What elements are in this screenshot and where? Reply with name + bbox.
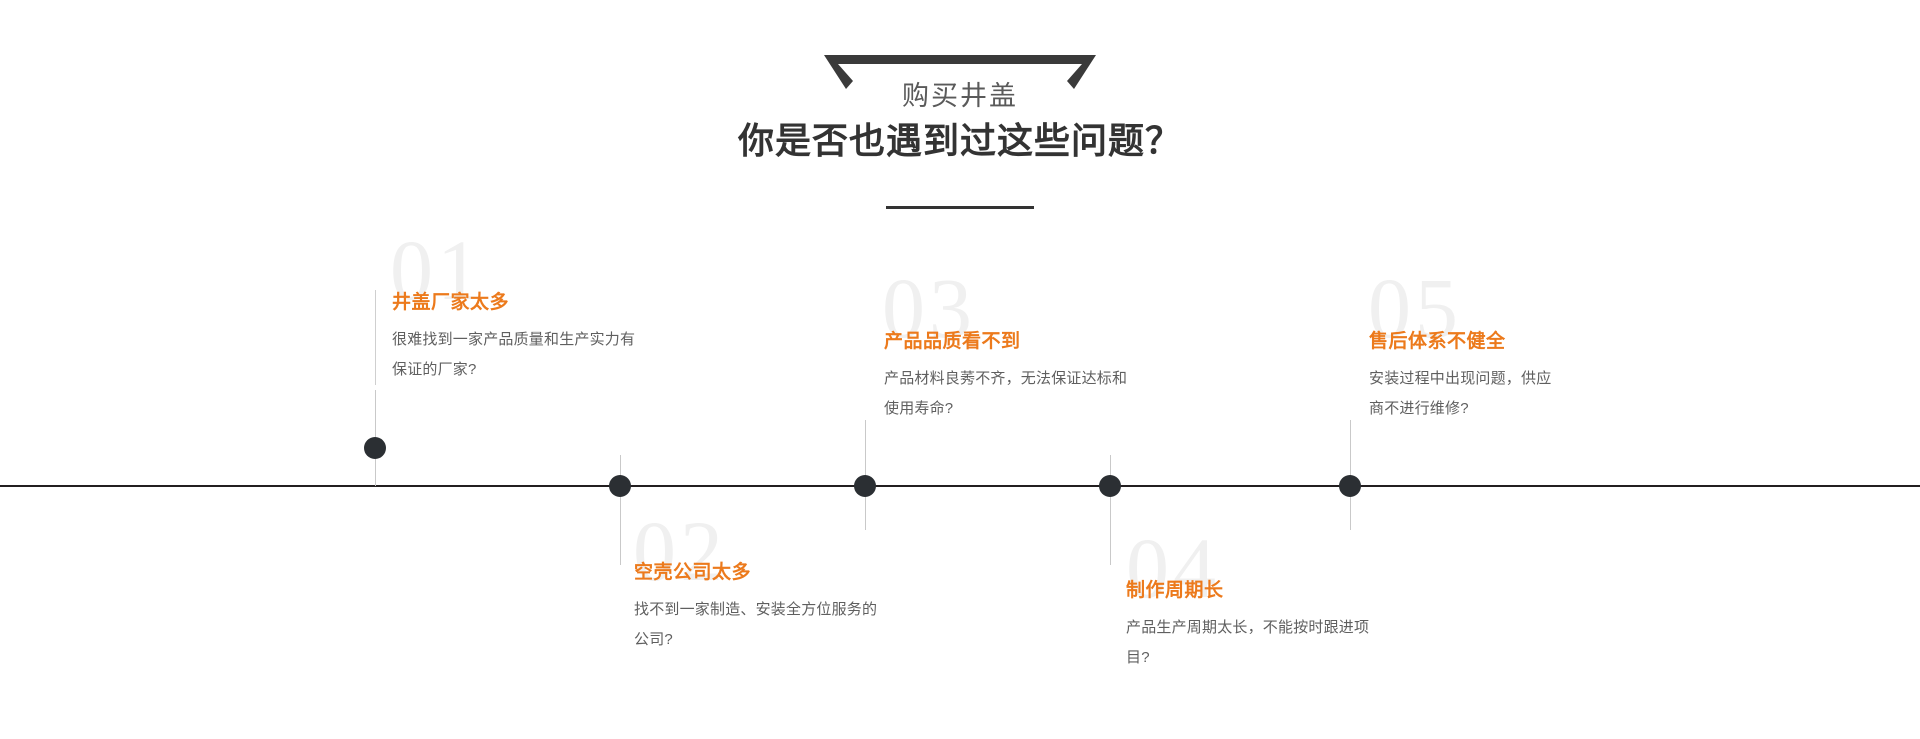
item-title-04: 制作周期长 bbox=[1126, 578, 1432, 604]
header-subtitle: 购买井盖 bbox=[0, 79, 1920, 113]
item-desc-line2-03: 使用寿命? bbox=[884, 394, 1190, 424]
item-text-03: 产品品质看不到 产品材料良莠不齐，无法保证达标和 使用寿命? bbox=[870, 329, 1190, 424]
page-title: 你是否也遇到过这些问题？ bbox=[0, 118, 1920, 164]
item-desc-line1-05: 安装过程中出现问题，供应 bbox=[1369, 370, 1551, 387]
item-text-02: 空壳公司太多 找不到一家制造、安装全方位服务的 公司? bbox=[620, 560, 940, 655]
item-desc-04: 产品生产周期太长，不能按时跟进项 目? bbox=[1126, 613, 1432, 673]
item-desc-line2-05: 商不进行维修? bbox=[1369, 394, 1675, 424]
item-desc-line1-03: 产品材料良莠不齐，无法保证达标和 bbox=[884, 370, 1127, 387]
tick-line-04 bbox=[1110, 455, 1111, 565]
title-underline bbox=[886, 206, 1034, 209]
item-desc-line2-02: 公司? bbox=[634, 625, 940, 655]
tick-line-02 bbox=[620, 455, 621, 565]
item-title-03: 产品品质看不到 bbox=[884, 329, 1190, 355]
item-desc-05: 安装过程中出现问题，供应 商不进行维修? bbox=[1369, 364, 1675, 424]
item-desc-line1-01: 很难找到一家产品质量和生产实力有 bbox=[392, 331, 635, 348]
item-desc-line1-02: 找不到一家制造、安装全方位服务的 bbox=[634, 601, 877, 618]
timeline-dot-05[interactable] bbox=[1339, 475, 1361, 497]
item-title-05: 售后体系不健全 bbox=[1369, 329, 1675, 355]
page-header: 购买井盖 你是否也遇到过这些问题？ bbox=[0, 0, 1920, 230]
item-desc-02: 找不到一家制造、安装全方位服务的 公司? bbox=[634, 595, 940, 655]
item-text-05: 售后体系不健全 安装过程中出现问题，供应 商不进行维修? bbox=[1355, 329, 1675, 424]
timeline-dot-03[interactable] bbox=[854, 475, 876, 497]
item-title-01: 井盖厂家太多 bbox=[392, 290, 695, 316]
timeline-dot-02[interactable] bbox=[609, 475, 631, 497]
item-desc-line2-01: 保证的厂家? bbox=[392, 355, 695, 385]
item-title-02: 空壳公司太多 bbox=[634, 560, 940, 586]
timeline-dot-01[interactable] bbox=[364, 437, 386, 459]
timeline-axis bbox=[0, 485, 1920, 487]
item-text-01: 井盖厂家太多 很难找到一家产品质量和生产实力有 保证的厂家? bbox=[375, 290, 695, 385]
item-desc-01: 很难找到一家产品质量和生产实力有 保证的厂家? bbox=[392, 325, 695, 385]
timeline-dot-04[interactable] bbox=[1099, 475, 1121, 497]
item-desc-line1-04: 产品生产周期太长，不能按时跟进项 bbox=[1126, 619, 1369, 636]
item-desc-line2-04: 目? bbox=[1126, 643, 1432, 673]
item-desc-03: 产品材料良莠不齐，无法保证达标和 使用寿命? bbox=[884, 364, 1190, 424]
item-text-04: 制作周期长 产品生产周期太长，不能按时跟进项 目? bbox=[1112, 578, 1432, 673]
